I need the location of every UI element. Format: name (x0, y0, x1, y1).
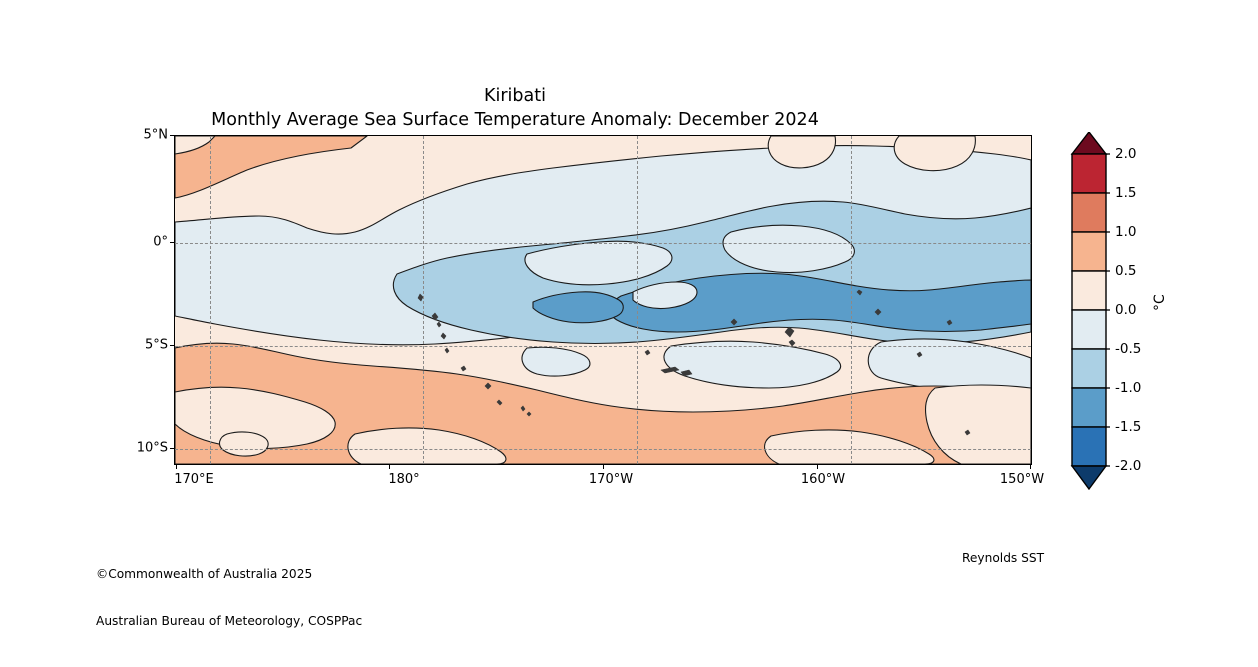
colorbar-over-arrow (1072, 132, 1106, 154)
colorbar-tick-2p0: 2.0 (1115, 146, 1136, 162)
colorbar-tick-n2p0: -2.0 (1115, 458, 1141, 474)
colorbar-tick-n0p5: -0.5 (1115, 341, 1141, 357)
colorbar-band-0p0-0p5 (1072, 271, 1106, 310)
x-tick-mark (817, 465, 818, 469)
colorbar-swatches (1070, 132, 1110, 490)
sst-anomaly-figure: Kiribati Monthly Average Sea Surface Tem… (0, 0, 1258, 667)
title-line-country: Kiribati (0, 84, 1030, 108)
page-title: Kiribati Monthly Average Sea Surface Tem… (0, 84, 1030, 132)
colorbar-tick-0p5: 0.5 (1115, 263, 1136, 279)
colorbar-band-0p5-1p0 (1072, 232, 1106, 271)
x-tick-label-160w: 160°W (801, 472, 845, 487)
colorbar-tick-0p0: 0.0 (1115, 302, 1136, 318)
colorbar-band-n1p0-n0p5 (1072, 349, 1106, 388)
colorbar-band-n2p0-n1p5 (1072, 427, 1106, 466)
colorbar-tick-n1p0: -1.0 (1115, 380, 1141, 396)
colorbar-tick-n1p5: -1.5 (1115, 419, 1141, 435)
x-tick-label-180: 180° (388, 472, 419, 487)
colorbar-band-1p5-2p0 (1072, 154, 1106, 193)
y-tick-label-0: 0° (0, 234, 168, 249)
colorbar-band-1p0-1p5 (1072, 193, 1106, 232)
x-tick-label-170e: 170°E (174, 472, 214, 487)
contour-layer (175, 136, 1031, 464)
x-tick-label-150w: 150°W (1000, 472, 1044, 487)
footer-agency: Australian Bureau of Meteorology, COSPPa… (96, 614, 362, 630)
colorbar (1070, 132, 1110, 490)
y-tick-label-5n: 5°N (0, 128, 168, 143)
colorbar-band-n0p5-0p0 (1072, 310, 1106, 349)
footer-data-source: Reynolds SST (962, 551, 1044, 565)
x-tick-mark (603, 465, 604, 469)
colorbar-band-n1p5-n1p0 (1072, 388, 1106, 427)
colorbar-tick-1p5: 1.5 (1115, 185, 1136, 201)
y-tick-label-5s: 5°S (0, 338, 168, 353)
x-tick-mark (1030, 465, 1031, 469)
colorbar-tick-1p0: 1.0 (1115, 224, 1136, 240)
x-tick-mark (176, 465, 177, 469)
x-tick-label-170w: 170°W (589, 472, 633, 487)
colorbar-under-arrow (1072, 466, 1106, 489)
x-tick-mark (389, 465, 390, 469)
footer-copyright: ©Commonwealth of Australia 2025 (96, 567, 362, 583)
y-tick-label-10s: 10°S (0, 441, 168, 456)
colorbar-unit-label: °C (1152, 294, 1168, 311)
sst-anomaly-map (174, 135, 1032, 465)
footer-attribution: ©Commonwealth of Australia 2025 Australi… (96, 536, 362, 660)
